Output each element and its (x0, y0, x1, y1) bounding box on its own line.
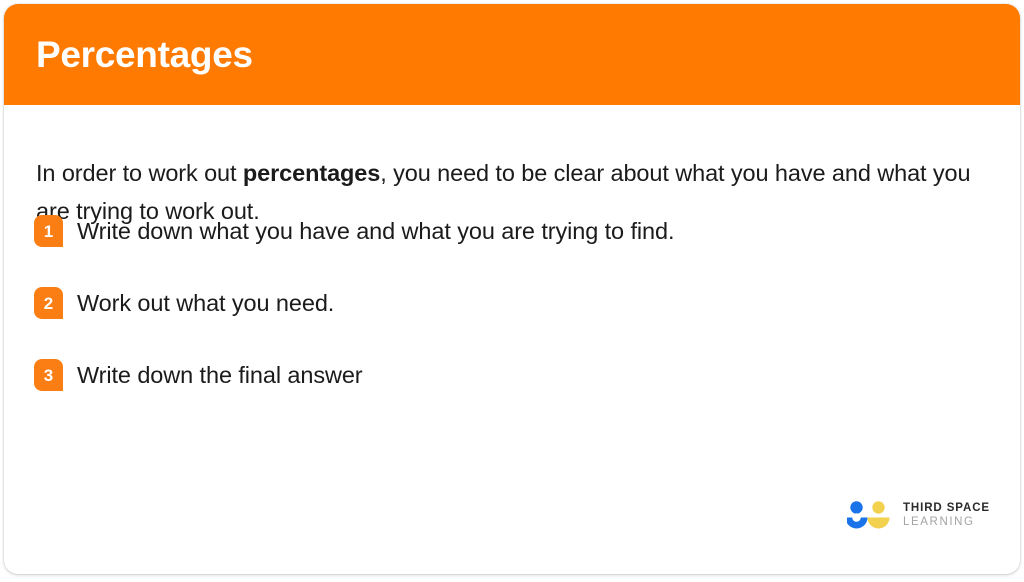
page-title: Percentages (36, 32, 253, 78)
list-item: 3 Write down the final answer (34, 359, 994, 391)
logo-wordmark: THIRD SPACE LEARNING (903, 501, 990, 529)
two-people-logo-icon (847, 500, 893, 530)
step-number-badge: 3 (34, 359, 63, 391)
intro-text-bold: percentages (243, 160, 380, 186)
step-number-badge: 1 (34, 215, 63, 247)
intro-text-before: In order to work out (36, 160, 243, 186)
list-item: 1 Write down what you have and what you … (34, 215, 994, 247)
card-body: In order to work out percentages, you ne… (4, 105, 1020, 574)
lesson-card: Percentages In order to work out percent… (4, 4, 1020, 574)
step-number-badge: 2 (34, 287, 63, 319)
step-text: Work out what you need. (77, 287, 334, 319)
steps-list: 1 Write down what you have and what you … (34, 215, 994, 431)
step-text: Write down the final answer (77, 359, 363, 391)
card-header: Percentages (4, 4, 1020, 105)
step-text: Write down what you have and what you ar… (77, 215, 674, 247)
list-item: 2 Work out what you need. (34, 287, 994, 319)
logo-line-2: LEARNING (903, 515, 990, 529)
third-space-learning-logo: THIRD SPACE LEARNING (847, 500, 990, 530)
logo-line-1: THIRD SPACE (903, 501, 990, 515)
